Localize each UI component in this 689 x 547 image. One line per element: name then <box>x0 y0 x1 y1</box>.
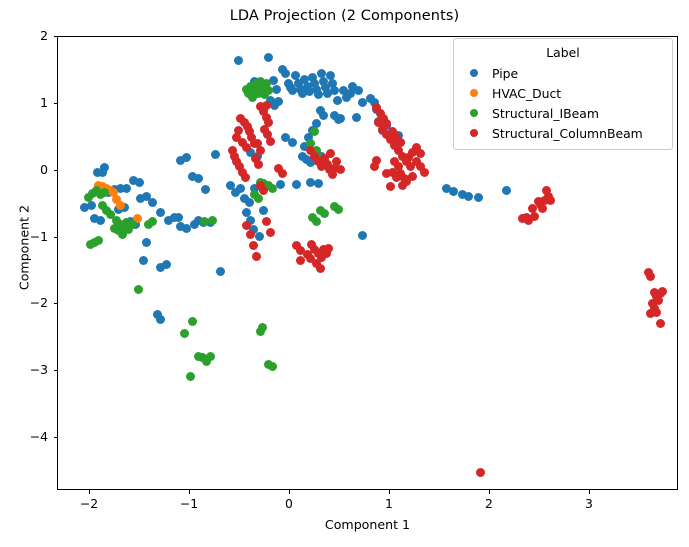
y-tick-mark <box>54 437 58 438</box>
x-tick-label: 1 <box>359 496 419 511</box>
scatter-point <box>314 179 323 188</box>
scatter-point <box>254 194 263 203</box>
scatter-point <box>370 162 379 171</box>
scatter-point <box>122 218 131 227</box>
scatter-point <box>242 143 251 152</box>
scatter-point <box>156 208 165 217</box>
scatter-point <box>312 217 321 226</box>
scatter-point <box>142 238 151 247</box>
legend-item-structural_ibeam[interactable]: Structural_IBeam <box>461 103 665 123</box>
scatter-point <box>241 173 250 182</box>
scatter-point <box>180 329 189 338</box>
page-title: LDA Projection (2 Components) <box>0 8 689 24</box>
legend-item-label: Structural_IBeam <box>492 106 599 121</box>
scatter-point <box>314 90 323 99</box>
y-tick-mark <box>54 170 58 171</box>
legend: Label PipeHVAC_DuctStructural_IBeamStruc… <box>453 38 673 150</box>
scatter-point <box>270 101 279 110</box>
scatter-point <box>646 309 655 318</box>
scatter-point <box>248 93 257 102</box>
scatter-point <box>135 178 144 187</box>
y-tick-mark <box>54 370 58 371</box>
scatter-point <box>249 241 258 250</box>
figure: LDA Projection (2 Components) −2−10123 2… <box>0 0 689 547</box>
scatter-point <box>148 217 157 226</box>
scatter-point <box>262 101 271 110</box>
scatter-point <box>538 204 547 213</box>
scatter-point <box>116 201 125 210</box>
legend-item-hvac_duct[interactable]: HVAC_Duct <box>461 83 665 103</box>
scatter-point <box>334 205 343 214</box>
y-axis-label: Component 2 <box>17 128 32 368</box>
y-tick-mark <box>54 36 58 37</box>
legend-entries: PipeHVAC_DuctStructural_IBeamStructural_… <box>461 63 665 143</box>
scatter-point <box>336 165 345 174</box>
scatter-point <box>162 260 171 269</box>
y-tick-label: −4 <box>0 429 48 444</box>
scatter-point <box>464 192 473 201</box>
scatter-point <box>528 204 537 213</box>
legend-item-pipe[interactable]: Pipe <box>461 63 665 83</box>
scatter-point <box>319 111 328 120</box>
scatter-point <box>449 187 458 196</box>
y-tick-mark <box>54 237 58 238</box>
scatter-point <box>252 79 261 88</box>
legend-title: Label <box>461 43 665 63</box>
scatter-point <box>296 246 305 255</box>
scatter-point <box>281 69 290 78</box>
scatter-point <box>122 184 131 193</box>
x-axis-label: Component 1 <box>57 517 678 532</box>
scatter-point <box>264 86 273 95</box>
scatter-point <box>352 113 361 122</box>
y-tick-mark <box>54 103 58 104</box>
x-tick-label: 2 <box>459 496 519 511</box>
scatter-point <box>264 53 273 62</box>
scatter-point <box>256 327 265 336</box>
scatter-point <box>358 231 367 240</box>
scatter-point <box>292 180 301 189</box>
scatter-point <box>96 216 105 225</box>
scatter-point <box>266 228 275 237</box>
scatter-point <box>174 213 183 222</box>
scatter-point <box>148 198 157 207</box>
scatter-point <box>208 216 217 225</box>
x-tick-mark <box>89 490 90 494</box>
scatter-point <box>333 96 342 105</box>
legend-item-label: Structural_ColumnBeam <box>492 126 643 141</box>
scatter-point <box>94 236 103 245</box>
scatter-point <box>658 287 667 296</box>
scatter-point <box>420 168 429 177</box>
scatter-point <box>254 160 263 169</box>
scatter-point <box>176 156 185 165</box>
scatter-point <box>236 184 245 193</box>
legend-item-label: Pipe <box>492 66 518 81</box>
scatter-point <box>474 193 483 202</box>
scatter-point <box>268 362 277 371</box>
scatter-point <box>530 212 539 221</box>
scatter-point <box>386 182 395 191</box>
x-tick-mark <box>489 490 490 494</box>
x-tick-label: −2 <box>59 496 119 511</box>
scatter-point <box>186 372 195 381</box>
legend-marker-icon <box>470 89 478 97</box>
scatter-point <box>245 198 254 207</box>
scatter-point <box>334 115 343 124</box>
scatter-point <box>242 208 251 217</box>
scatter-point <box>216 267 225 276</box>
x-tick-mark <box>189 490 190 494</box>
x-tick-mark <box>289 490 290 494</box>
scatter-point <box>110 224 119 233</box>
scatter-point <box>310 127 319 136</box>
scatter-point <box>118 230 127 239</box>
scatter-point <box>316 264 325 273</box>
scatter-point <box>156 315 165 324</box>
scatter-point <box>93 168 102 177</box>
x-tick-label: 3 <box>559 496 619 511</box>
x-tick-label: −1 <box>159 496 219 511</box>
scatter-point <box>476 468 485 477</box>
x-tick-mark <box>589 490 590 494</box>
scatter-point <box>522 213 531 222</box>
scatter-point <box>272 85 281 94</box>
scatter-point <box>259 206 268 215</box>
scatter-point <box>320 209 329 218</box>
scatter-point <box>542 186 551 195</box>
scatter-point <box>382 169 391 178</box>
legend-marker-icon <box>470 129 478 137</box>
scatter-point <box>646 272 655 281</box>
scatter-point <box>276 180 285 189</box>
scatter-point <box>252 252 261 261</box>
scatter-point <box>211 150 220 159</box>
scatter-point <box>259 186 268 195</box>
scatter-point <box>306 254 315 263</box>
legend-marker-icon <box>470 109 478 117</box>
scatter-point <box>326 149 335 158</box>
scatter-point <box>139 256 148 265</box>
legend-item-label: HVAC_Duct <box>492 86 561 101</box>
legend-marker-icon <box>470 69 478 77</box>
scatter-point <box>278 169 287 178</box>
scatter-point <box>354 86 363 95</box>
scatter-point <box>242 221 251 230</box>
scatter-point <box>262 217 271 226</box>
scatter-point <box>206 352 215 361</box>
scatter-point <box>246 230 255 239</box>
scatter-point <box>201 185 210 194</box>
scatter-point <box>134 285 143 294</box>
scatter-point <box>324 244 333 253</box>
scatter-point <box>188 317 197 326</box>
legend-item-structural_columnbeam[interactable]: Structural_ColumnBeam <box>461 123 665 143</box>
scatter-point <box>190 220 199 229</box>
scatter-point <box>330 86 339 95</box>
scatter-point <box>194 174 203 183</box>
y-tick-label: 2 <box>0 28 48 43</box>
scatter-point <box>546 196 555 205</box>
scatter-point <box>268 184 277 193</box>
scatter-point <box>266 137 275 146</box>
scatter-point <box>288 138 297 147</box>
y-tick-mark <box>54 303 58 304</box>
scatter-point <box>502 186 511 195</box>
y-tick-label: 1 <box>0 95 48 110</box>
x-tick-mark <box>389 490 390 494</box>
scatter-point <box>80 203 89 212</box>
scatter-point <box>398 181 407 190</box>
scatter-point <box>234 56 243 65</box>
scatter-point <box>84 193 93 202</box>
x-tick-label: 0 <box>259 496 319 511</box>
scatter-point <box>656 319 665 328</box>
